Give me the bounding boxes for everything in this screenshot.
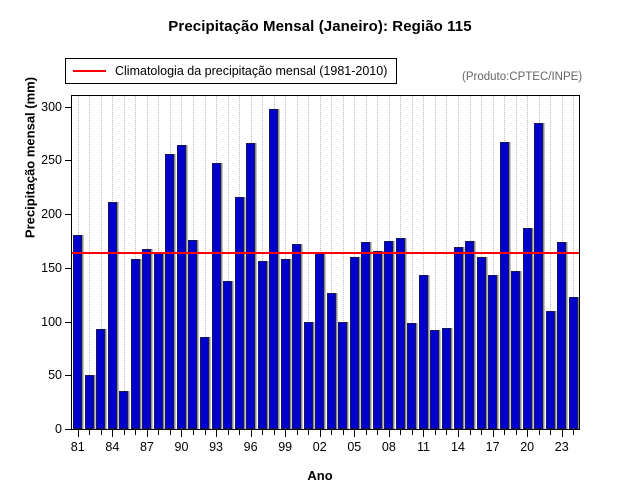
x-tick-label: 23	[555, 440, 569, 454]
bar[interactable]	[246, 143, 255, 429]
bar[interactable]	[223, 281, 232, 429]
bar[interactable]	[154, 253, 163, 429]
x-tick-label: 20	[520, 440, 534, 454]
bar[interactable]	[327, 293, 336, 429]
producer-credit: (Produto:CPTEC/INPE)	[462, 71, 582, 83]
x-tick	[320, 429, 321, 437]
x-tick	[170, 429, 171, 435]
y-tick-label: 150	[41, 261, 62, 275]
bar[interactable]	[108, 202, 117, 429]
bar[interactable]	[569, 297, 578, 429]
bar[interactable]	[511, 271, 520, 429]
bar[interactable]	[373, 251, 382, 429]
bar[interactable]	[338, 322, 347, 429]
y-tick-label: 250	[41, 153, 62, 167]
x-tick	[262, 429, 263, 435]
plot-inner	[72, 96, 579, 429]
y-tick	[65, 107, 72, 108]
bar[interactable]	[557, 242, 566, 429]
x-tick	[573, 429, 574, 435]
x-tick-label: 90	[175, 440, 189, 454]
bar[interactable]	[73, 235, 82, 429]
y-tick-label: 100	[41, 315, 62, 329]
bar[interactable]	[177, 145, 186, 429]
bar[interactable]	[546, 311, 555, 429]
bar[interactable]	[304, 322, 313, 429]
bar[interactable]	[419, 275, 428, 429]
x-tick	[377, 429, 378, 435]
x-tick	[181, 429, 182, 437]
x-tick	[412, 429, 413, 435]
y-axis-title: Precipitação mensal (mm)	[23, 28, 38, 288]
bar[interactable]	[523, 228, 532, 429]
x-tick	[539, 429, 540, 435]
y-tick	[65, 322, 72, 323]
x-tick	[423, 429, 424, 437]
x-tick	[331, 429, 332, 435]
x-tick-label: 05	[347, 440, 361, 454]
x-tick	[297, 429, 298, 435]
x-tick	[446, 429, 447, 435]
bar[interactable]	[500, 142, 509, 429]
x-tick	[354, 429, 355, 437]
bar[interactable]	[396, 238, 405, 429]
x-tick	[135, 429, 136, 435]
x-tick	[193, 429, 194, 435]
x-tick	[216, 429, 217, 437]
y-tick-label: 0	[55, 422, 62, 436]
x-tick	[308, 429, 309, 435]
x-tick-label: 84	[105, 440, 119, 454]
bar[interactable]	[165, 154, 174, 429]
y-tick	[65, 429, 72, 430]
x-tick-label: 11	[417, 440, 430, 454]
x-tick-label: 93	[209, 440, 223, 454]
x-tick	[343, 429, 344, 435]
bar[interactable]	[258, 261, 267, 429]
x-tick	[400, 429, 401, 435]
climatology-reference-line	[72, 252, 579, 254]
x-tick	[516, 429, 517, 435]
bar[interactable]	[235, 197, 244, 429]
x-axis-title: Ano	[0, 468, 640, 483]
chart-root: Precipitação Mensal (Janeiro): Região 11…	[0, 0, 640, 500]
bar[interactable]	[292, 244, 301, 429]
bar[interactable]	[430, 330, 439, 429]
y-tick	[65, 214, 72, 215]
y-tick-label: 50	[48, 368, 62, 382]
bar[interactable]	[188, 240, 197, 429]
bar[interactable]	[315, 253, 324, 429]
x-tick	[147, 429, 148, 437]
bar[interactable]	[142, 249, 151, 429]
x-tick	[274, 429, 275, 435]
bar[interactable]	[350, 257, 359, 429]
bar[interactable]	[477, 257, 486, 429]
x-tick	[504, 429, 505, 435]
x-tick-label: 17	[486, 440, 500, 454]
x-tick	[527, 429, 528, 437]
x-tick	[112, 429, 113, 437]
bar[interactable]	[534, 123, 543, 429]
x-tick-label: 08	[382, 440, 396, 454]
bar[interactable]	[119, 391, 128, 429]
x-tick-label: 02	[313, 440, 327, 454]
y-tick	[65, 375, 72, 376]
bar-series	[72, 96, 579, 429]
x-tick	[205, 429, 206, 435]
x-tick	[124, 429, 125, 435]
x-tick	[239, 429, 240, 435]
x-tick	[389, 429, 390, 437]
x-tick	[251, 429, 252, 437]
x-tick-label: 87	[140, 440, 154, 454]
x-tick-label: 96	[244, 440, 258, 454]
page-title: Precipitação Mensal (Janeiro): Região 11…	[0, 18, 640, 35]
y-tick	[65, 160, 72, 161]
x-tick	[78, 429, 79, 437]
legend-line-swatch	[73, 70, 106, 72]
y-tick-label: 200	[41, 207, 62, 221]
bar[interactable]	[281, 259, 290, 429]
plot-area: 050100150200250300 818487909396990205081…	[71, 95, 580, 430]
x-tick	[493, 429, 494, 437]
bar[interactable]	[361, 242, 370, 429]
bar[interactable]	[407, 323, 416, 429]
x-tick-label: 99	[278, 440, 292, 454]
bar[interactable]	[465, 241, 474, 429]
x-tick	[470, 429, 471, 435]
bar[interactable]	[269, 109, 278, 429]
x-tick	[562, 429, 563, 437]
legend-item-label: Climatologia da precipitação mensal (198…	[115, 64, 387, 78]
bar[interactable]	[131, 259, 140, 429]
bar[interactable]	[384, 241, 393, 429]
bar[interactable]	[200, 337, 209, 429]
x-tick	[366, 429, 367, 435]
y-tick-label: 300	[41, 100, 62, 114]
x-tick	[158, 429, 159, 435]
x-tick	[481, 429, 482, 435]
bar[interactable]	[488, 275, 497, 429]
bar[interactable]	[454, 247, 463, 429]
x-tick-label: 81	[71, 440, 85, 454]
x-tick	[285, 429, 286, 437]
bar[interactable]	[212, 163, 221, 429]
x-tick	[228, 429, 229, 435]
x-tick	[101, 429, 102, 435]
x-tick	[89, 429, 90, 435]
bar[interactable]	[85, 375, 94, 429]
x-tick	[458, 429, 459, 437]
bar[interactable]	[96, 329, 105, 429]
x-tick	[435, 429, 436, 435]
legend: Climatologia da precipitação mensal (198…	[65, 58, 397, 84]
y-tick	[65, 268, 72, 269]
x-tick	[550, 429, 551, 435]
bar[interactable]	[442, 328, 451, 429]
x-tick-label: 14	[451, 440, 465, 454]
